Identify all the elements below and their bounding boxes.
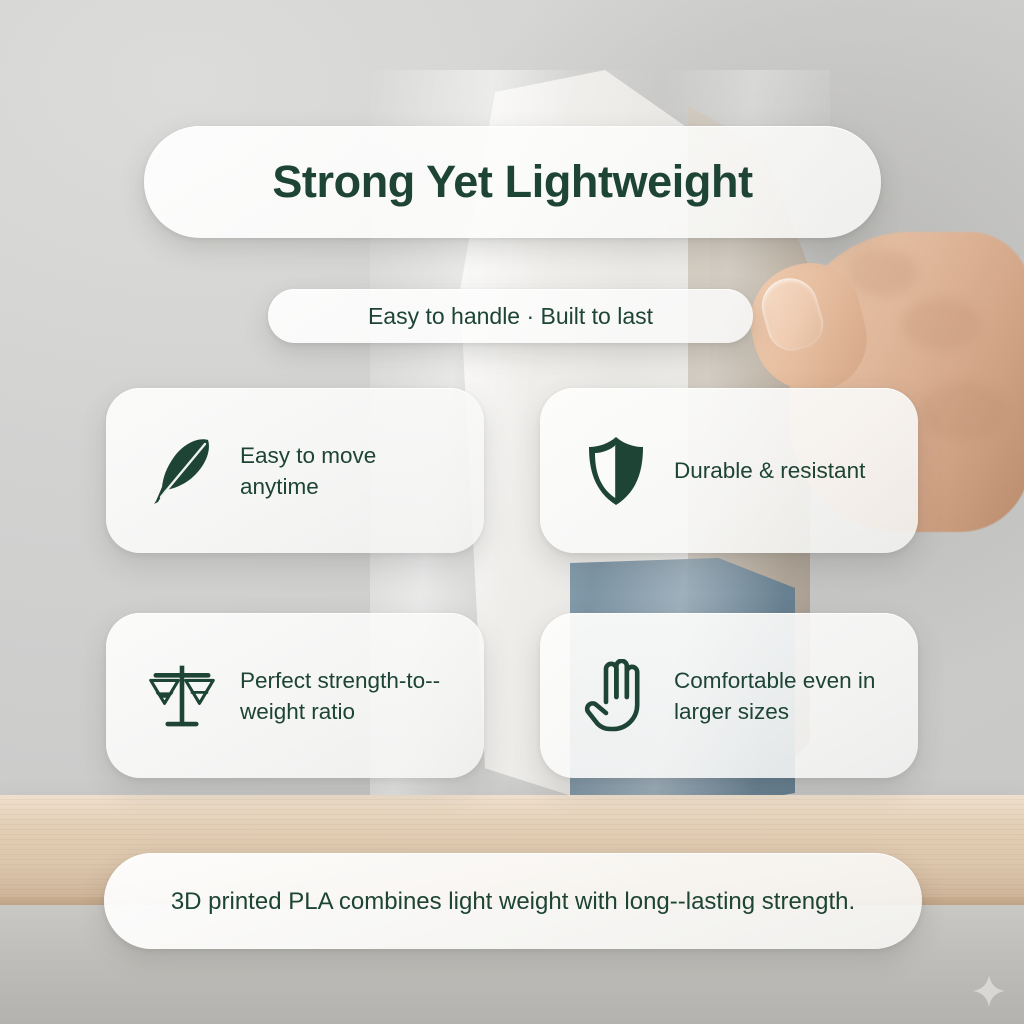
feature-card-strength-to-weight: Perfect strength-to--weight ratio	[106, 613, 484, 778]
subtitle-pill: Easy to handle · Built to last	[268, 289, 753, 343]
feature-label: Easy to move anytime	[240, 440, 455, 502]
hand-knuckle	[848, 250, 918, 296]
feature-card-easy-to-move: Easy to move anytime	[106, 388, 484, 553]
hand-knuckle	[902, 298, 980, 350]
feather-icon	[148, 432, 216, 510]
sparkle-icon	[972, 974, 1006, 1008]
title-pill: Strong Yet Lightweight	[144, 126, 881, 238]
feature-card-durable: Durable & resistant	[540, 388, 918, 553]
balance-scale-icon	[148, 657, 216, 735]
feature-label: Durable & resistant	[674, 455, 865, 486]
hand-knuckle	[920, 382, 1006, 440]
feature-label: Perfect strength-to--weight ratio	[240, 665, 455, 727]
footer-caption: 3D printed PLA combines light weight wit…	[171, 885, 855, 918]
page-title: Strong Yet Lightweight	[272, 156, 752, 208]
feature-card-comfortable: Comfortable even in larger sizes	[540, 613, 918, 778]
shield-icon	[582, 432, 650, 510]
footer-pill: 3D printed PLA combines light weight wit…	[104, 853, 922, 949]
infographic-canvas: Strong Yet Lightweight Easy to handle · …	[0, 0, 1024, 1024]
open-hand-icon	[582, 657, 650, 735]
feature-label: Comfortable even in larger sizes	[674, 665, 889, 727]
page-subtitle: Easy to handle · Built to last	[368, 303, 653, 330]
